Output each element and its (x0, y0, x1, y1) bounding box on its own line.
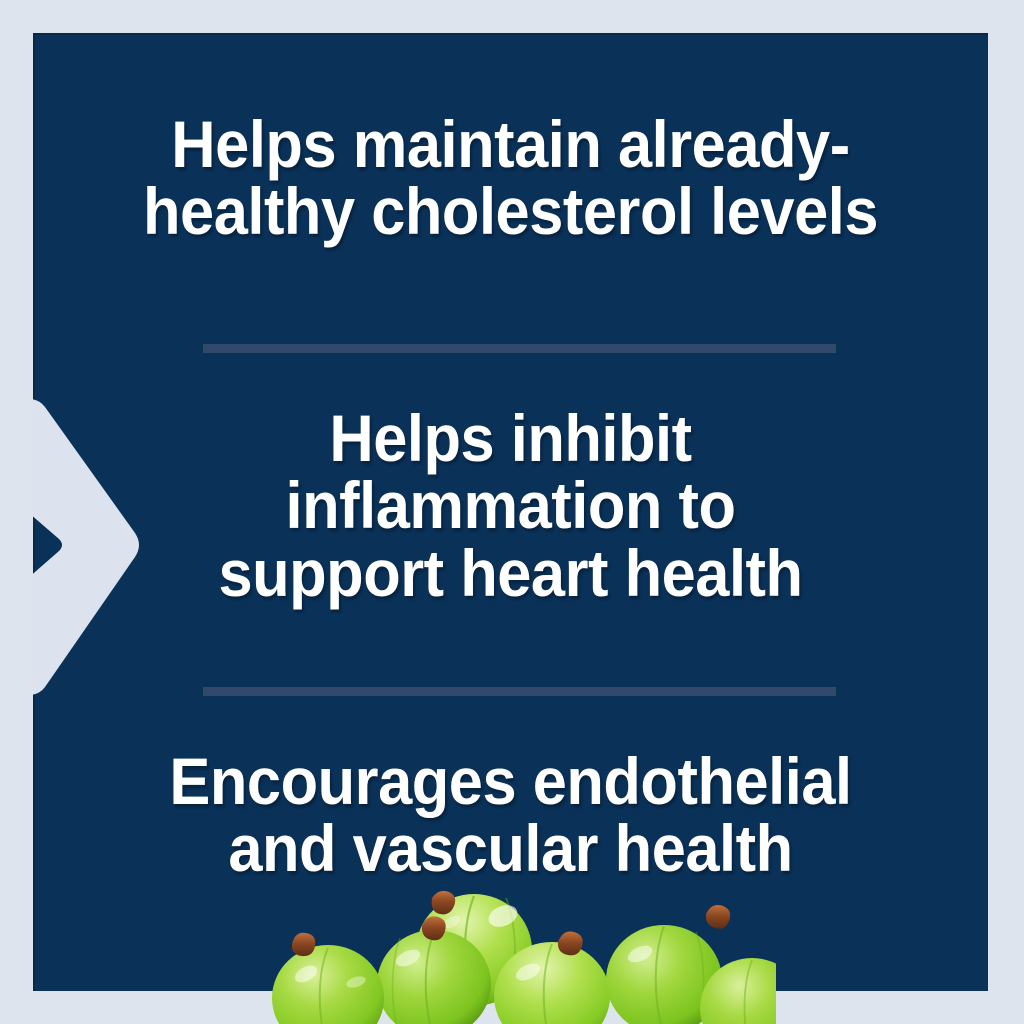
benefit-divider-2 (203, 687, 836, 696)
promo-graphic: Helps maintain already- healthy choleste… (0, 0, 1024, 1024)
amla-stem-center-front (558, 931, 583, 955)
benefit-divider-1 (203, 344, 836, 353)
chevron-right-icon (33, 393, 147, 698)
amla-stem-right (706, 905, 730, 929)
benefit-text-inflammation: Helps inhibit inflammation to support he… (66, 405, 954, 607)
benefit-text-endothelial: Encourages endothelial and vascular heal… (66, 748, 954, 883)
benefits-panel: Helps maintain already- healthy choleste… (33, 33, 988, 991)
benefit-text-cholesterol: Helps maintain already- healthy choleste… (66, 111, 954, 246)
amla-stem-far-left (292, 933, 315, 956)
amla-berry-far-left (272, 945, 384, 1024)
amla-gooseberry-cluster (256, 888, 776, 1024)
